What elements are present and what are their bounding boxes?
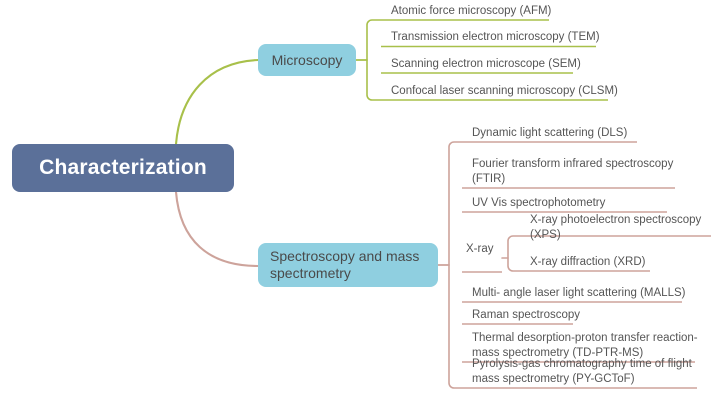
leaf-ftir[interactable]: Fourier transform infrared spectroscopy … xyxy=(466,157,686,189)
branch-node-spectroscopy[interactable]: Spectroscopy and mass spectrometry xyxy=(258,243,438,287)
leaf-xrd[interactable]: X-ray diffraction (XRD) xyxy=(524,255,714,273)
spectroscopy-spine xyxy=(449,142,462,388)
link-root-spectroscopy xyxy=(176,192,258,266)
leaf-clsm[interactable]: Confocal laser scanning microscopy (CLSM… xyxy=(385,84,620,102)
leaf-tem[interactable]: Transmission electron microscopy (TEM) xyxy=(385,30,615,48)
leaf-sem[interactable]: Scanning electron microscope (SEM) xyxy=(385,57,615,75)
leaf-afm[interactable]: Atomic force microscopy (AFM) xyxy=(385,4,615,22)
subbranch-node-xray[interactable]: X-ray xyxy=(460,242,520,260)
root-node[interactable]: Characterization xyxy=(12,144,234,192)
leaf-xps[interactable]: X-ray photoelectron spectroscopy (XPS) xyxy=(524,213,714,245)
leaf-py-gctof[interactable]: Pyrolysis-gas chromatography time of fli… xyxy=(466,357,706,389)
link-root-microscopy xyxy=(176,60,258,144)
branch-node-microscopy[interactable]: Microscopy xyxy=(258,44,356,76)
microscopy-spine xyxy=(367,20,381,100)
leaf-malls[interactable]: Multi- angle laser light scattering (MAL… xyxy=(466,286,691,304)
branch-node-spectroscopy-label: Spectroscopy and mass spectrometry xyxy=(270,248,426,282)
leaf-raman[interactable]: Raman spectroscopy xyxy=(466,308,691,326)
leaf-uv-vis[interactable]: UV Vis spectrophotometry xyxy=(466,196,686,214)
leaf-dls[interactable]: Dynamic light scattering (DLS) xyxy=(466,126,686,144)
root-node-label: Characterization xyxy=(39,156,207,180)
branch-node-microscopy-label: Microscopy xyxy=(272,52,343,69)
mindmap-canvas: Characterization Microscopy Spectroscopy… xyxy=(0,0,715,410)
